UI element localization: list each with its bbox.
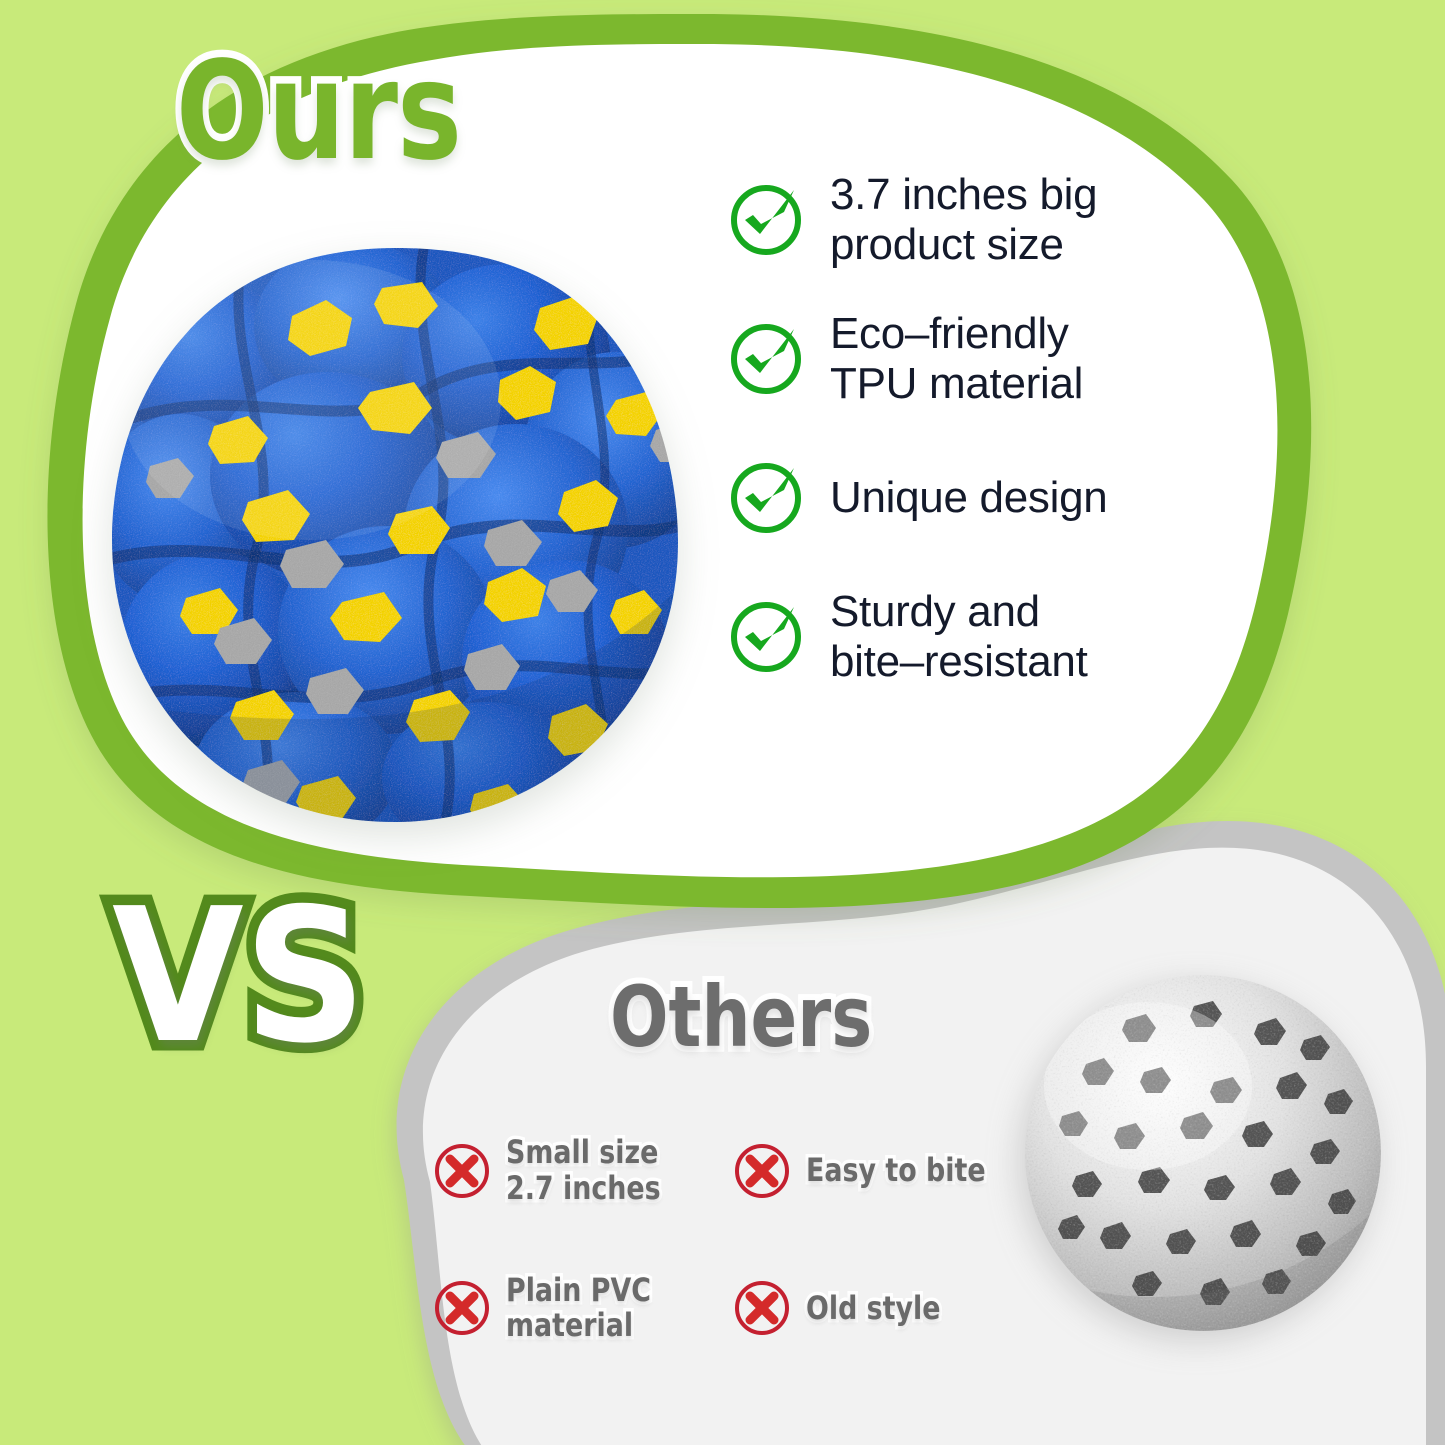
drawback-item: Easy to bite <box>732 1135 1012 1207</box>
x-circle-icon <box>432 1278 492 1338</box>
drawback-item: Old style <box>732 1273 1012 1345</box>
others-drawback-list: Small size 2.7 inches Easy to bite <box>432 1135 1012 1344</box>
feature-item: Sturdy and bite–resistant <box>728 567 1168 706</box>
others-title: Others <box>610 975 872 1059</box>
x-circle-icon <box>432 1141 492 1201</box>
drawback-label: Small size 2.7 inches <box>506 1135 661 1207</box>
ours-title: Ours <box>176 44 461 180</box>
check-circle-icon <box>728 182 804 258</box>
drawback-label: Plain PVC material <box>506 1273 651 1345</box>
drawback-item: Small size 2.7 inches <box>432 1135 732 1207</box>
x-circle-icon <box>732 1141 792 1201</box>
x-circle-icon <box>732 1278 792 1338</box>
feature-label: Sturdy and bite–resistant <box>830 587 1088 686</box>
infographic-canvas: Ours VS Others 3.7 inches big product si… <box>0 0 1445 1445</box>
check-circle-icon <box>728 321 804 397</box>
feature-label: Unique design <box>830 473 1107 523</box>
ours-feature-list: 3.7 inches big product size Eco–friendly… <box>728 150 1168 706</box>
blue-knotted-foam-ball-image <box>96 230 696 830</box>
plain-white-speckled-foam-ball-image <box>1018 968 1388 1338</box>
drawback-item: Plain PVC material <box>432 1273 732 1345</box>
feature-item: Unique design <box>728 428 1168 567</box>
check-circle-icon <box>728 460 804 536</box>
drawback-label: Easy to bite <box>806 1153 986 1189</box>
feature-item: Eco–friendly TPU material <box>728 289 1168 428</box>
feature-label: 3.7 inches big product size <box>830 170 1097 269</box>
feature-item: 3.7 inches big product size <box>728 150 1168 289</box>
check-circle-icon <box>728 599 804 675</box>
versus-label: VS <box>112 884 366 1069</box>
feature-label: Eco–friendly TPU material <box>830 309 1083 408</box>
drawback-label: Old style <box>806 1291 940 1327</box>
